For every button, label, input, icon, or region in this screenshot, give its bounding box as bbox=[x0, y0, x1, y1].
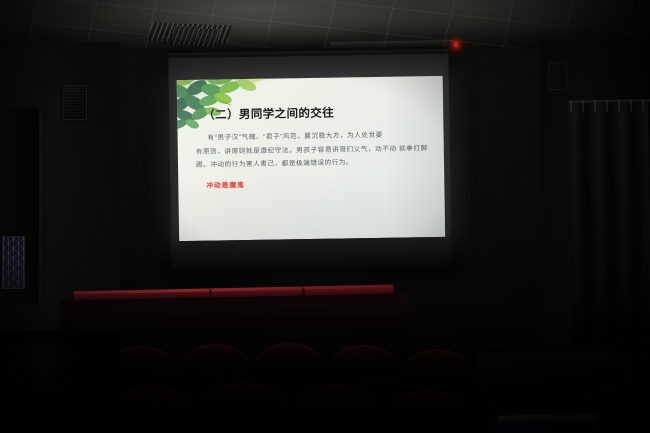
slide-body-line: 有“男子汉”气魄、“君子”风范，要沉稳大方，为人处世要 bbox=[195, 128, 427, 145]
presenter-desk bbox=[478, 352, 628, 414]
seat-silhouette bbox=[178, 344, 252, 372]
screen-bottom-mask bbox=[171, 237, 451, 270]
seat-divider bbox=[209, 289, 211, 297]
wall-speaker-left bbox=[63, 85, 87, 120]
seat-divider bbox=[302, 287, 304, 295]
slide-highlight-text: 冲动是魔鬼 bbox=[206, 179, 245, 190]
curtain-hooks-icon bbox=[570, 99, 650, 112]
seat-silhouette bbox=[400, 349, 474, 377]
projector-power-led-icon bbox=[454, 42, 458, 47]
laptop-display[interactable] bbox=[502, 419, 593, 433]
door-lattice-window bbox=[2, 236, 25, 289]
projected-slide: （二）男同学之间的交往 有“男子汉”气魄、“君子”风范，要沉稳大方，为人处世要 … bbox=[177, 76, 445, 241]
slide-body-text: 有“男子汉”气魄、“君子”风范，要沉稳大方，为人处世要 有原则，讲原则就是遵纪守… bbox=[195, 128, 428, 172]
door-frame bbox=[39, 108, 40, 303]
seat-silhouette bbox=[382, 390, 474, 426]
seat-silhouette bbox=[290, 384, 382, 420]
auditorium-scene: （二）男同学之间的交往 有“男子汉”气魄、“君子”风范，要沉稳大方，为人处世要 … bbox=[0, 0, 650, 433]
projection-screen-assembly: （二）男同学之间的交往 有“男子汉”气魄、“君子”风范，要沉稳大方，为人处世要 … bbox=[168, 54, 451, 273]
wall-speaker-right bbox=[548, 62, 567, 90]
presenter-laptop[interactable] bbox=[498, 414, 597, 433]
curtain-shadow bbox=[568, 101, 650, 347]
audience-silhouette bbox=[0, 330, 120, 433]
side-door[interactable] bbox=[0, 108, 41, 303]
speaker-mesh-icon bbox=[66, 88, 84, 117]
slide-title: （二）男同学之间的交往 bbox=[203, 105, 334, 123]
seat-silhouette bbox=[252, 343, 326, 371]
slide-body-line: 有原则，讲原则就是遵纪守法。男孩子容易讲哥们义气，动不动 bbox=[196, 145, 397, 155]
seat-silhouette bbox=[326, 345, 400, 373]
window-shadow bbox=[3, 257, 24, 288]
seat-silhouette bbox=[198, 382, 290, 418]
